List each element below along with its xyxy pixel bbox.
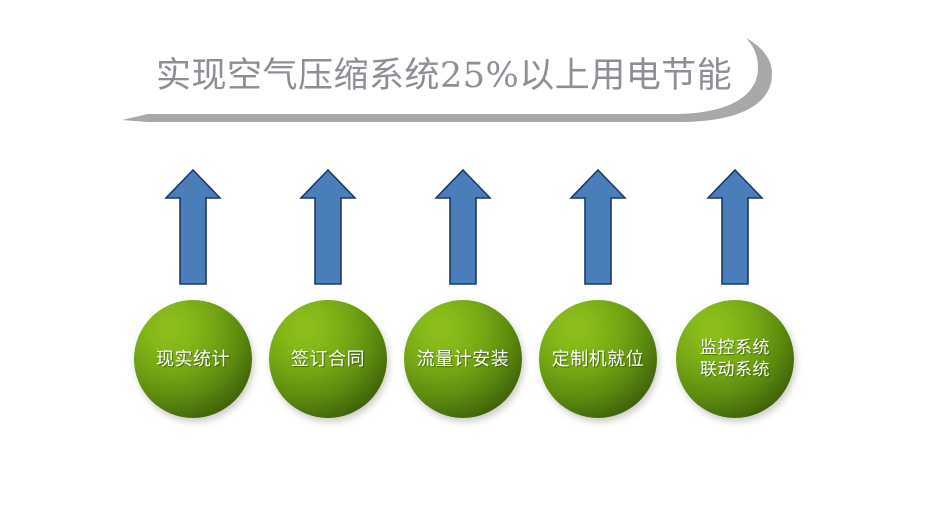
flow-label-2: 签订合同	[291, 348, 365, 371]
arrow-up-icon	[434, 168, 492, 286]
arrow-up-icon	[706, 168, 764, 286]
flow-step-5[interactable]: 监控系统 联动系统	[675, 168, 795, 424]
flow-step-4[interactable]: 定制机就位	[538, 168, 658, 424]
flow-label-1: 现实统计	[156, 348, 230, 371]
arrow-up-icon	[569, 168, 627, 286]
flow-circle-2[interactable]: 签订合同	[269, 300, 387, 418]
flow-circle-3[interactable]: 流量计安装	[404, 300, 522, 418]
flow-label-5: 监控系统 联动系统	[700, 337, 770, 381]
flow-label-3: 流量计安装	[417, 348, 510, 371]
arrow-up-icon	[164, 168, 222, 286]
flow-circle-4[interactable]: 定制机就位	[539, 300, 657, 418]
slide-canvas: 实现空气压缩系统25%以上用电节能 现实统计 签订合同	[0, 0, 945, 529]
arrow-up-icon	[299, 168, 357, 286]
flow-circle-1[interactable]: 现实统计	[134, 300, 252, 418]
process-flow-row: 现实统计 签订合同 流量计安装 定	[0, 0, 945, 529]
flow-step-2[interactable]: 签订合同	[268, 168, 388, 424]
flow-label-4: 定制机就位	[552, 348, 645, 371]
flow-circle-5[interactable]: 监控系统 联动系统	[676, 300, 794, 418]
flow-step-3[interactable]: 流量计安装	[403, 168, 523, 424]
flow-step-1[interactable]: 现实统计	[133, 168, 253, 424]
